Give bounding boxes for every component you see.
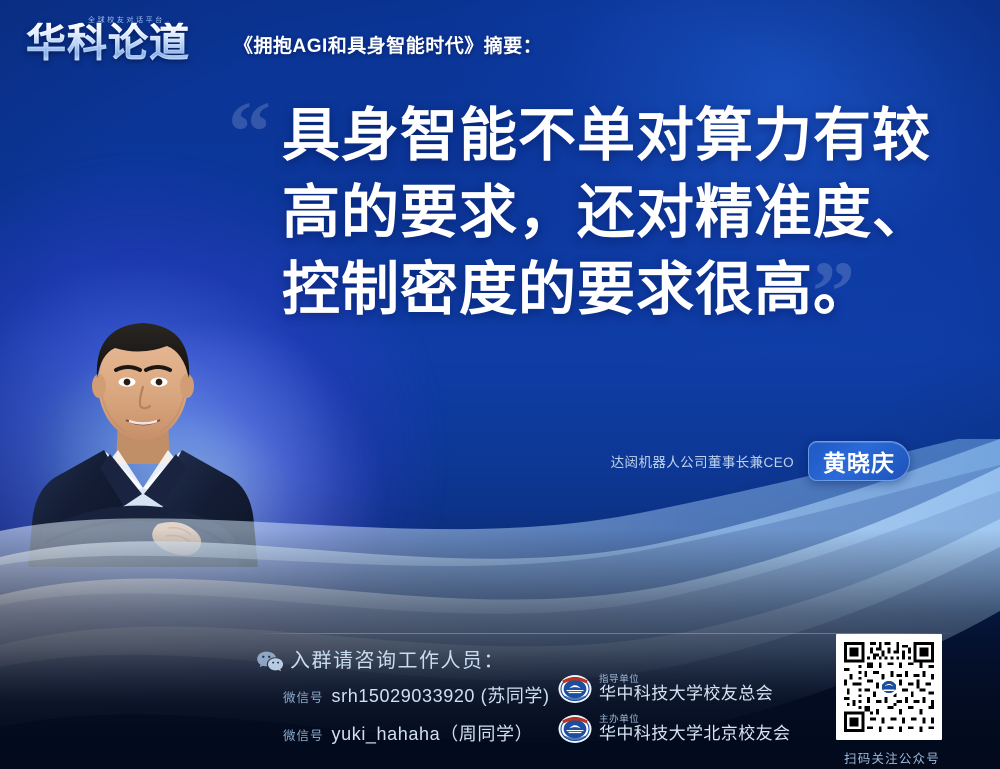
wechat-icon [256,650,284,672]
contact-value: yuki_hahaha（周同学） [332,720,534,746]
organizer-name: 华中科技大学北京校友会 [599,725,790,743]
page-title: 《拥抱AGI和具身智能时代》摘要： [234,31,542,58]
logo-wordmark: 华科论道 [26,23,190,63]
speaker-title: 达闼机器人公司董事长兼CEO [611,451,794,471]
hust-emblem-icon [558,712,592,746]
contact-label: 微信号 [283,725,324,744]
quote-line: 控制密度的要求很高。 [282,251,962,328]
poster-root: 全球校友对话平台 华科论道 《拥抱AGI和具身智能时代》摘要： “ ” 具身智能… [0,0,1000,769]
speaker-attribution: 达闼机器人公司董事长兼CEO 黄晓庆 [560,440,910,482]
hust-emblem-icon [558,672,592,706]
qr-block: 扫码关注公众号 [836,634,948,767]
footer-heading: 入群请咨询工作人员： [290,644,505,673]
quote-line: 具身智能不单对算力有较 [282,97,962,174]
organizer-texts: 主办单位 华中科技大学北京校友会 [599,715,790,744]
organizer-row: 指导单位 华中科技大学校友总会 [558,672,773,706]
brand-logo: 全球校友对话平台 华科论道 [26,15,216,73]
organizer-texts: 指导单位 华中科技大学校友总会 [599,675,773,704]
quote-open-mark: “ [228,88,271,174]
contact-label: 微信号 [283,687,324,706]
qr-caption: 扫码关注公众号 [836,748,948,767]
contact-row: 微信号 srh15029033920 (苏同学) [283,682,550,708]
organizer-name: 华中科技大学校友总会 [599,685,773,703]
qr-code-icon[interactable] [836,634,942,740]
speaker-name-badge: 黄晓庆 [808,441,910,481]
contact-row: 微信号 yuki_hahaha（周同学） [283,720,533,746]
poster-header: 全球校友对话平台 华科论道 《拥抱AGI和具身智能时代》摘要： [0,0,1000,88]
quote-line: 高的要求，还对精准度、 [282,174,962,251]
contact-value: srh15029033920 (苏同学) [332,682,550,708]
organizer-row: 主办单位 华中科技大学北京校友会 [558,712,790,746]
quote-text: 具身智能不单对算力有较 高的要求，还对精准度、 控制密度的要求很高。 [282,97,962,328]
